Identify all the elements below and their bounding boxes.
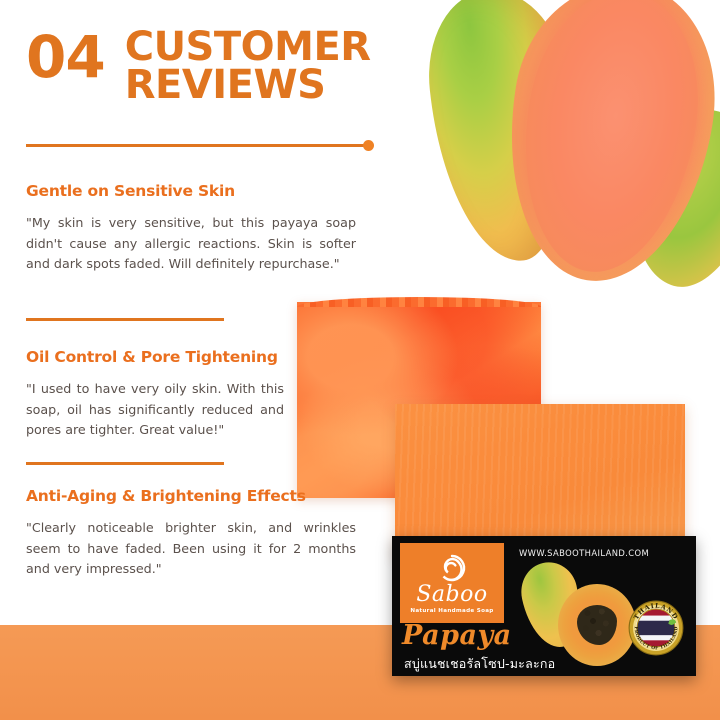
review-title: Anti-Aging & Brightening Effects bbox=[26, 487, 356, 505]
section-header: 04 CUSTOMER REVIEWS bbox=[26, 30, 426, 105]
review-title: Oil Control & Pore Tightening bbox=[26, 348, 291, 366]
review-body: "Clearly noticeable brighter skin, and w… bbox=[26, 518, 356, 580]
soap-bar-solid bbox=[395, 404, 685, 556]
review-body: "I used to have very oily skin. With thi… bbox=[26, 379, 284, 441]
brand-logo-box: Saboo Natural Handmade Soap bbox=[400, 543, 504, 623]
review-divider bbox=[26, 318, 224, 321]
papaya-fruit-photo bbox=[424, 0, 720, 294]
header-rule-line bbox=[26, 144, 366, 147]
header-rule-dot bbox=[363, 140, 374, 151]
page-title-line2: REVIEWS bbox=[125, 66, 371, 104]
review-item: Oil Control & Pore Tightening "I used to… bbox=[26, 348, 291, 441]
brand-name: Saboo bbox=[416, 584, 487, 606]
label-papaya-seeds bbox=[577, 605, 617, 645]
page-title: CUSTOMER REVIEWS bbox=[125, 28, 371, 105]
section-number: 04 bbox=[26, 30, 105, 86]
label-papaya-half bbox=[558, 584, 636, 666]
review-divider bbox=[26, 462, 224, 465]
review-title: Gentle on Sensitive Skin bbox=[26, 182, 356, 200]
product-label-card: Saboo Natural Handmade Soap WWW.SABOOTHA… bbox=[392, 536, 696, 676]
papaya-seeds bbox=[536, 18, 685, 233]
header-rule bbox=[26, 140, 374, 152]
review-body: "My skin is very sensitive, but this pay… bbox=[26, 213, 356, 275]
review-item: Gentle on Sensitive Skin "My skin is ver… bbox=[26, 182, 356, 275]
brand-tagline: Natural Handmade Soap bbox=[410, 608, 493, 614]
product-variant-name: Papaya bbox=[402, 622, 512, 649]
review-item: Anti-Aging & Brightening Effects "Clearl… bbox=[26, 487, 356, 580]
thailand-seal-badge: THAILAND PRODUCT OF THAILAND bbox=[628, 600, 684, 656]
product-thai-name: สบู่แนชเชอรัลโซป-มะละกอ bbox=[404, 654, 555, 674]
spiral-swirl-icon bbox=[437, 553, 467, 583]
brand-website-url: WWW.SABOOTHAILAND.COM bbox=[519, 548, 649, 558]
